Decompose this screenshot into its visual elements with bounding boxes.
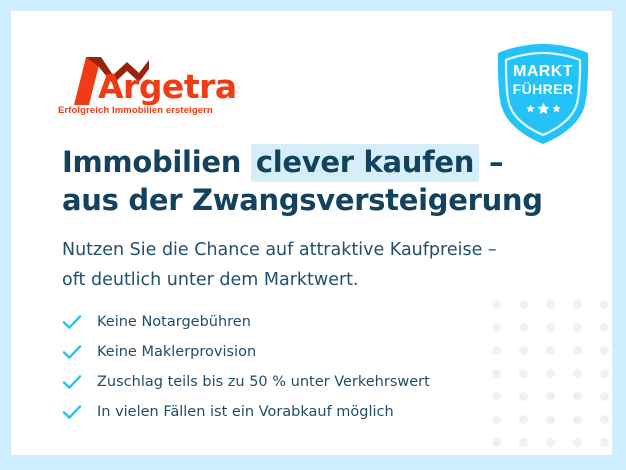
benefit-item: Zuschlag teils bis zu 50 % unter Verkehr… <box>62 367 562 397</box>
benefit-item: In vielen Fällen ist ein Vorabkauf mögli… <box>62 397 562 427</box>
headline-text-after: – <box>479 145 503 179</box>
brand-logo: Argetra Erfolgreich Immobilien ersteiger… <box>56 53 236 128</box>
dot <box>546 438 555 447</box>
dot <box>600 369 609 378</box>
dot <box>600 323 609 332</box>
dot <box>492 438 501 447</box>
headline-line-2: aus der Zwangsversteigerung <box>62 181 582 219</box>
benefit-list: Keine NotargebührenKeine Maklerprovision… <box>62 307 562 427</box>
check-icon <box>62 341 88 363</box>
subheadline-line-2: oft deutlich unter dem Marktwert. <box>62 265 582 295</box>
market-leader-badge: MARKT FÜHRER <box>492 42 594 146</box>
headline: Immobilien clever kaufen – aus der Zwang… <box>62 143 582 219</box>
check-icon <box>62 371 88 393</box>
shield-icon <box>492 42 594 146</box>
dot <box>573 392 582 401</box>
dot <box>573 323 582 332</box>
dot <box>600 392 609 401</box>
promo-card: Argetra Erfolgreich Immobilien ersteiger… <box>0 0 626 470</box>
subheadline-line-1: Nutzen Sie die Chance auf attraktive Kau… <box>62 235 582 265</box>
headline-text-before: Immobilien <box>62 145 251 179</box>
benefit-label: Zuschlag teils bis zu 50 % unter Verkehr… <box>97 375 430 390</box>
dot <box>519 438 528 447</box>
check-icon <box>62 311 88 333</box>
card-inner: Argetra Erfolgreich Immobilien ersteiger… <box>11 11 612 455</box>
dot <box>573 369 582 378</box>
benefit-label: Keine Maklerprovision <box>97 345 256 360</box>
benefit-item: Keine Maklerprovision <box>62 337 562 367</box>
headline-line-1: Immobilien clever kaufen – <box>62 143 582 181</box>
benefit-label: In vielen Fällen ist ein Vorabkauf mögli… <box>97 405 394 420</box>
dot <box>573 346 582 355</box>
dot <box>600 438 609 447</box>
check-icon <box>62 401 88 423</box>
dot <box>573 438 582 447</box>
benefit-item: Keine Notargebühren <box>62 307 562 337</box>
dot <box>573 300 582 309</box>
dot <box>600 346 609 355</box>
dot <box>573 415 582 424</box>
dot <box>600 300 609 309</box>
headline-highlight: clever kaufen <box>251 144 479 182</box>
subheadline: Nutzen Sie die Chance auf attraktive Kau… <box>62 235 582 295</box>
benefit-label: Keine Notargebühren <box>97 315 251 330</box>
dot <box>600 415 609 424</box>
dot-row <box>492 438 612 447</box>
logo-wordmark: Argetra <box>98 70 237 103</box>
logo-tagline: Erfolgreich Immobilien ersteigern <box>58 105 213 116</box>
